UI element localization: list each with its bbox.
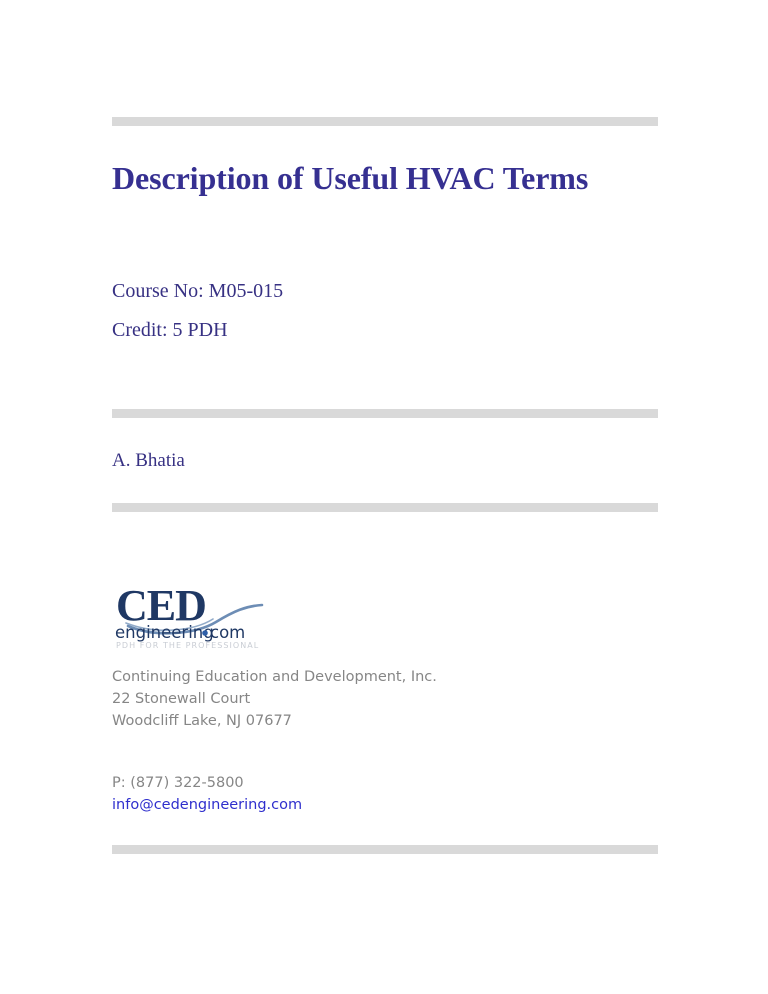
divider-author <box>112 503 658 512</box>
email-link[interactable]: info@cedengineering.com <box>112 794 302 816</box>
page-title: Description of Useful HVAC Terms <box>112 158 672 198</box>
phone-number: P: (877) 322-5800 <box>112 772 302 794</box>
logo-artwork: CED engineering com PDH FOR THE PROFESSI… <box>112 582 272 650</box>
logo-domain-word: engineering <box>115 623 214 642</box>
divider-top <box>112 117 658 126</box>
divider-middle <box>112 409 658 418</box>
divider-bottom <box>112 845 658 854</box>
document-page: Description of Useful HVAC Terms Course … <box>0 0 768 994</box>
course-number: Course No: M05-015 <box>112 272 572 311</box>
ced-engineering-logo: CED engineering com PDH FOR THE PROFESSI… <box>112 582 272 650</box>
logo-tagline: PDH FOR THE PROFESSIONAL <box>116 641 259 650</box>
address-city-state-zip: Woodcliff Lake, NJ 07677 <box>112 710 437 732</box>
logo-domain-suffix: com <box>210 623 245 642</box>
address-street: 22 Stonewall Court <box>112 688 437 710</box>
organization-name: Continuing Education and Development, In… <box>112 666 437 688</box>
contact-details: P: (877) 322-5800 info@cedengineering.co… <box>112 772 302 816</box>
organization-address: Continuing Education and Development, In… <box>112 666 437 732</box>
course-credit: Credit: 5 PDH <box>112 311 572 350</box>
author-name: A. Bhatia <box>112 448 185 474</box>
logo-dot-icon <box>202 630 208 636</box>
course-meta: Course No: M05-015 Credit: 5 PDH <box>112 272 572 350</box>
